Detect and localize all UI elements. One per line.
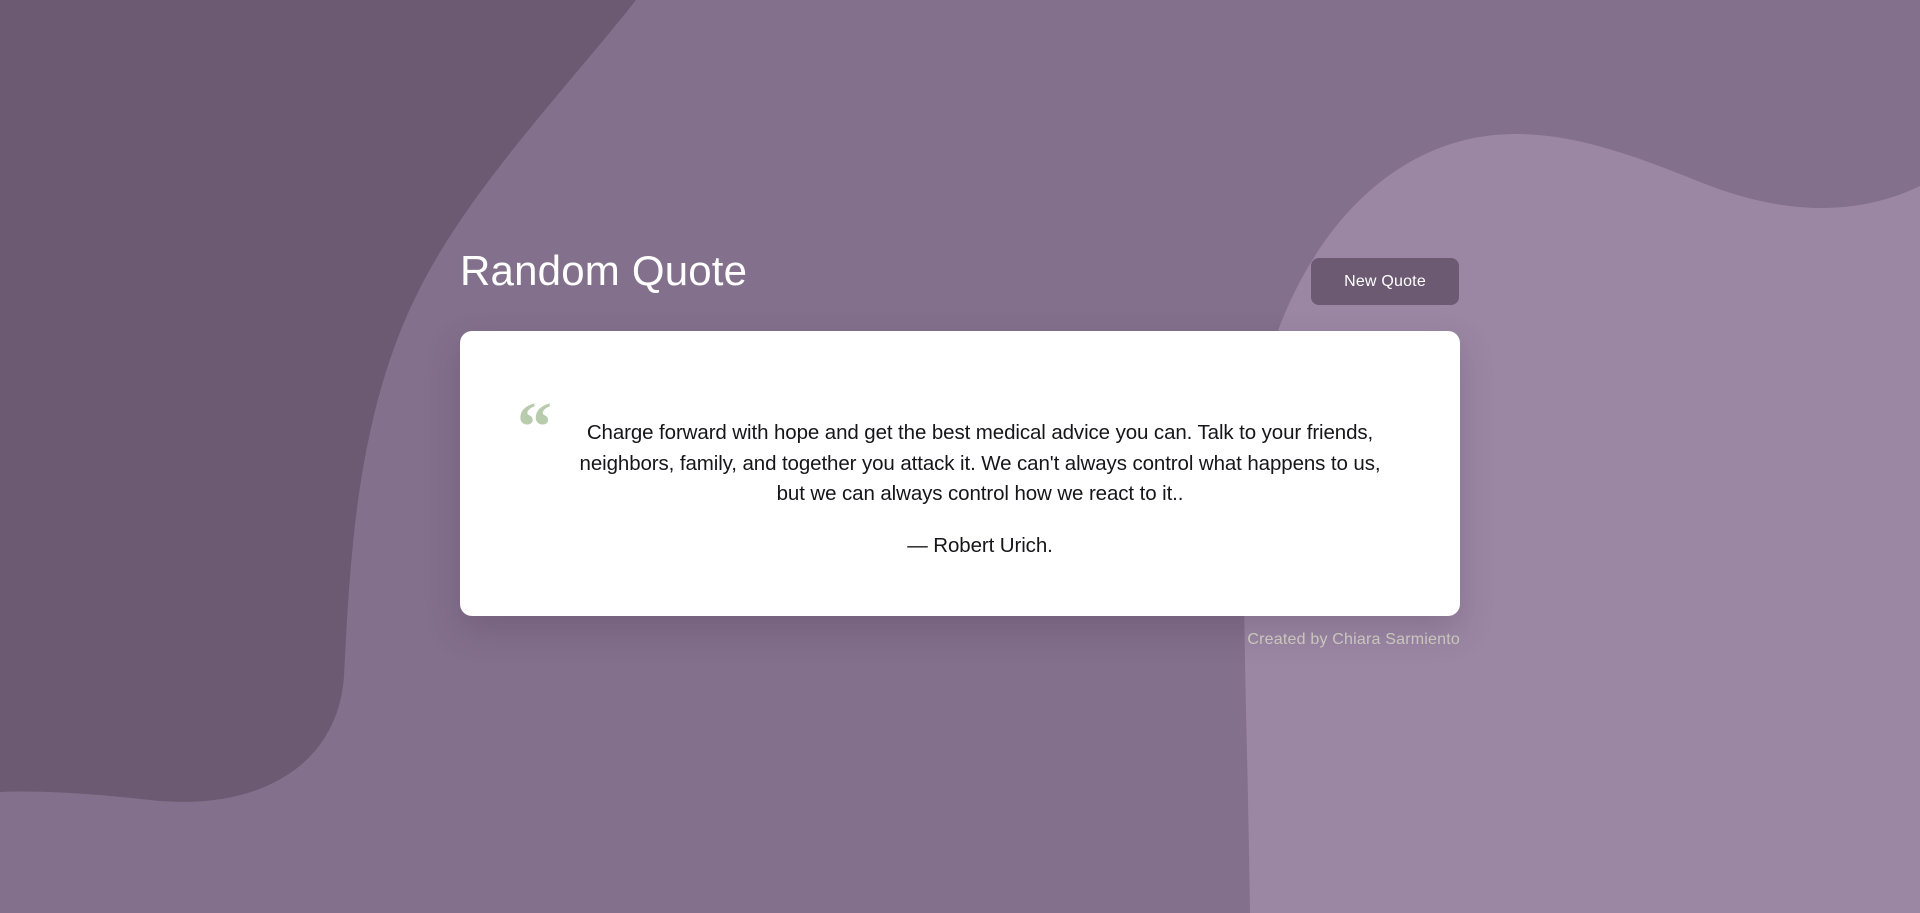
footer-credit: Created by Chiara Sarmiento — [0, 631, 1460, 649]
quote-text: Charge forward with hope and get the bes… — [565, 418, 1395, 510]
app-stage: Random Quote New Quote “ Charge forward … — [0, 0, 1920, 913]
quote-card: “ Charge forward with hope and get the b… — [460, 331, 1460, 616]
quote-author: — Robert Urich. — [565, 534, 1395, 558]
new-quote-button[interactable]: New Quote — [1311, 258, 1459, 305]
page-title: Random Quote — [460, 248, 747, 294]
quote-mark-icon: “ — [517, 393, 552, 463]
